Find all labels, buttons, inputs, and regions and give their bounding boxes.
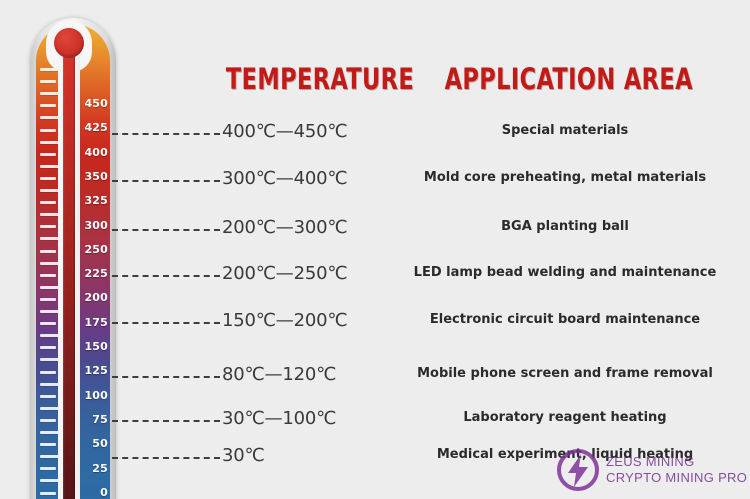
tick-mark [40, 467, 56, 470]
thermometer-bulb [54, 28, 84, 58]
scale-label-400: 400 [84, 147, 108, 158]
column-header-application-area: APPLICATION AREA [445, 62, 686, 96]
watermark-line-2: CRYPTO MINING PRO [606, 470, 747, 486]
scale-label-25: 25 [92, 463, 108, 474]
scale-label-225: 225 [84, 268, 108, 279]
tick-mark [40, 201, 56, 204]
tick-mark [40, 80, 56, 83]
scale-label-450: 450 [84, 98, 108, 109]
tick-mark [40, 298, 56, 301]
thermometer-mercury-tube [63, 36, 75, 499]
leader-line [112, 420, 220, 422]
scale-label-0: 0 [100, 487, 108, 498]
scale-label-175: 175 [84, 317, 108, 328]
scale-label-200: 200 [84, 292, 108, 303]
tick-mark [40, 104, 56, 107]
tick-mark [40, 346, 56, 349]
tick-mark [40, 419, 56, 422]
tick-mark [40, 395, 56, 398]
leader-line [112, 229, 220, 231]
watermark-text: ZEUS MINING CRYPTO MINING PRO [606, 454, 747, 486]
leader-line [112, 180, 220, 182]
tick-mark [40, 492, 56, 495]
thermometer-graphic: 4504254003503253002502252001751501251007… [30, 18, 116, 499]
application-value: Mobile phone screen and frame removal [400, 367, 730, 381]
leader-line [112, 133, 220, 135]
infographic-canvas: 4504254003503253002502252001751501251007… [0, 0, 750, 499]
scale-label-75: 75 [92, 414, 108, 425]
scale-label-50: 50 [92, 438, 108, 449]
leader-line [112, 376, 220, 378]
scale-label-300: 300 [84, 220, 108, 231]
temperature-value: 200℃—250℃ [222, 265, 412, 283]
temperature-value: 300℃—400℃ [222, 170, 412, 188]
application-value: BGA planting ball [400, 220, 730, 234]
scale-label-325: 325 [84, 195, 108, 206]
leader-line [112, 322, 220, 324]
tick-mark [40, 129, 56, 132]
watermark: ZEUS MINING CRYPTO MINING PRO [555, 443, 750, 497]
application-value: Special materials [400, 124, 730, 138]
temperature-value: 30℃ [222, 447, 412, 465]
temperature-value: 200℃—300℃ [222, 219, 412, 237]
scale-label-100: 100 [84, 390, 108, 401]
scale-label-125: 125 [84, 365, 108, 376]
column-header-temperature: TEMPERATURE [217, 62, 423, 96]
tick-mark [40, 322, 56, 325]
scale-label-425: 425 [84, 122, 108, 133]
tick-mark [40, 177, 56, 180]
tick-mark [40, 371, 56, 374]
leader-line [112, 275, 220, 277]
temperature-value: 80℃—120℃ [222, 366, 412, 384]
tick-mark [40, 225, 56, 228]
scale-label-150: 150 [84, 341, 108, 352]
application-value: Laboratory reagent heating [400, 411, 730, 425]
temperature-value: 30℃—100℃ [222, 410, 412, 428]
application-value: LED lamp bead welding and maintenance [400, 266, 730, 280]
application-value: Electronic circuit board maintenance [400, 313, 730, 327]
temperature-value: 150℃—200℃ [222, 312, 412, 330]
scale-label-250: 250 [84, 244, 108, 255]
leader-line [112, 457, 220, 459]
watermark-line-1: ZEUS MINING [606, 454, 747, 470]
lightning-bolt-circle-icon [555, 447, 601, 493]
application-value: Mold core preheating, metal materials [400, 171, 730, 185]
tick-mark [40, 274, 56, 277]
tick-mark [40, 250, 56, 253]
temperature-value: 400℃—450℃ [222, 123, 412, 141]
tick-mark [40, 153, 56, 156]
scale-label-350: 350 [84, 171, 108, 182]
tick-mark [40, 443, 56, 446]
